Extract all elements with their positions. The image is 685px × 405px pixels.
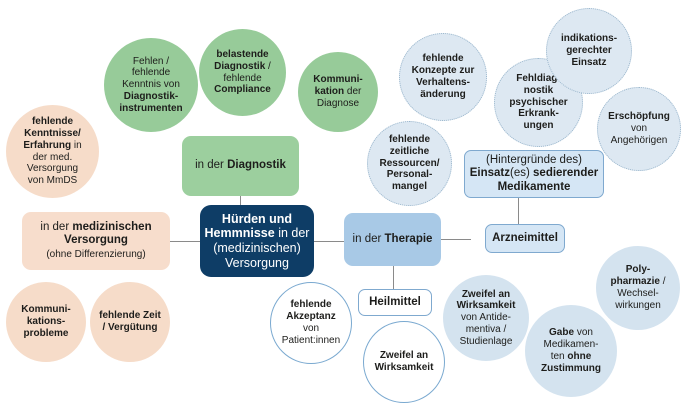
circle-line: von <box>574 327 593 338</box>
circle-line: Diagnostik <box>214 61 265 72</box>
circle-line: Konzepte zur <box>412 65 475 76</box>
circle-line: Zweifel an <box>380 350 428 361</box>
node-label-bold: Heilmittel <box>369 296 421 308</box>
circle-line: Einsatz <box>571 57 606 68</box>
circle-gabe-ohne-zustimmung[interactable]: Gabe von Medikamen- ten ohne Zustimmung <box>525 305 617 397</box>
node-heilmittel[interactable]: Heilmittel <box>358 289 432 316</box>
mindmap-canvas: Fehlen / fehlende Kenntnis von Diagnosti… <box>0 0 685 405</box>
circle-fehlende-akzeptanz[interactable]: fehlende Akzeptanz von Patient:innen <box>270 282 352 364</box>
circle-line: in <box>71 140 82 151</box>
circle-zweifel-antidementiva[interactable]: Zweifel an Wirksamkeit von Antide- menti… <box>443 275 529 361</box>
connector-therapie-to-arzneimittel <box>441 239 471 240</box>
circle-line: Diagnostik- <box>124 91 178 102</box>
node-in-der-medizinischen-versorgung[interactable]: in der medizinischen Versorgung (ohne Di… <box>22 212 170 270</box>
circle-line: Erschöpfung <box>608 111 670 122</box>
circle-line: Poly- <box>626 264 650 275</box>
circle-fehlende-konzepte[interactable]: fehlende Konzepte zur Verhaltens- änderu… <box>399 33 487 121</box>
node-label-bold: Therapie <box>385 233 433 245</box>
circle-kommunikationsprobleme[interactable]: Kommuni- kations- probleme <box>6 282 86 362</box>
circle-line: zeitliche <box>390 146 429 157</box>
node-label-bold: Diagnostik <box>227 159 286 171</box>
circle-line: / <box>660 276 666 287</box>
node-label-bold: Arzneimittel <box>492 232 558 244</box>
circle-line: fehlende <box>32 116 73 127</box>
circle-indikationsgerechter-einsatz[interactable]: indikations- gerechter Einsatz <box>546 8 632 94</box>
circle-line: Gabe <box>549 327 574 338</box>
circle-line: von MmDS <box>28 175 77 186</box>
node-label-bold: medizinischen <box>72 221 151 233</box>
circle-line: Erkrank- <box>518 108 559 119</box>
circle-line: Diagnose <box>317 98 359 109</box>
node-center-huerden-hemmnisse[interactable]: Hürden und Hemmnisse in der (medizinisch… <box>200 205 314 277</box>
circle-line: von <box>303 323 319 334</box>
circle-line: Kommuni- <box>21 304 70 315</box>
circle-line: fehlende <box>132 67 170 78</box>
circle-line: / <box>265 61 271 72</box>
sed-line2-bold2: sedierender <box>530 167 598 179</box>
circle-line: Studienlage <box>460 336 513 347</box>
node-label-prefix: in der <box>40 221 72 233</box>
circle-line: änderung <box>420 89 466 100</box>
circle-line: kation <box>315 86 344 97</box>
sed-line2-light: (es) <box>510 167 530 179</box>
circle-line: nostik <box>524 85 553 96</box>
node-arzneimittel[interactable]: Arzneimittel <box>485 224 565 253</box>
circle-line: mentiva / <box>466 324 507 335</box>
node-einsatz-sedierender-medikamente[interactable]: (Hintergründe des) Einsatz(es) sedierend… <box>464 150 604 198</box>
circle-line: Wirksamkeit <box>375 362 434 373</box>
circle-line: ohne <box>567 351 591 362</box>
node-in-der-therapie[interactable]: in der Therapie <box>344 213 441 266</box>
circle-fehlende-zeitliche-ressourcen[interactable]: fehlende zeitliche Ressourcen/ Personal-… <box>367 121 452 206</box>
circle-line: von <box>631 123 647 134</box>
circle-line: psychischer <box>509 97 567 108</box>
circle-line: von Antide- <box>461 312 511 323</box>
connector-arzneimittel-to-sedierende <box>518 198 519 224</box>
circle-line: mangel <box>392 181 427 192</box>
connector-center-to-therapie <box>314 241 344 242</box>
circle-fehlende-zeit-verguetung[interactable]: fehlende Zeit / Vergütung <box>90 282 170 362</box>
center-line3: (medizinischen) <box>213 241 301 255</box>
node-label-note: (ohne Differenzierung) <box>46 249 145 260</box>
circle-line: / Vergütung <box>103 322 158 333</box>
circle-line: kations- <box>27 316 65 327</box>
circle-line: instrumenten <box>119 103 182 114</box>
circle-zweifel-an-wirksamkeit[interactable]: Zweifel an Wirksamkeit <box>363 321 445 403</box>
circle-line: indikations- <box>561 33 617 44</box>
sed-line2-bold: Einsatz <box>470 167 510 179</box>
circle-line: der <box>344 86 361 97</box>
circle-line: ungen <box>524 120 554 131</box>
circle-line: Verhaltens- <box>416 77 470 88</box>
circle-line: fehlende <box>290 299 331 310</box>
circle-line: ten <box>551 351 568 362</box>
circle-line: gerechter <box>566 45 612 56</box>
circle-line: Wechsel- <box>617 288 659 299</box>
circle-fehlen-diagnostikinstrumente[interactable]: Fehlen / fehlende Kenntnis von Diagnosti… <box>104 38 198 132</box>
circle-line: Ressourcen/ <box>379 158 439 169</box>
center-line2-bold: Hemmnisse <box>205 226 275 240</box>
circle-line: Medikamen- <box>543 339 598 350</box>
circle-line: Compliance <box>214 84 271 95</box>
circle-line: fehlende <box>223 73 261 84</box>
node-label-prefix: in der <box>195 159 227 171</box>
center-line1: Hürden und <box>222 212 292 226</box>
circle-line: probleme <box>23 328 68 339</box>
connector-center-to-versorgung <box>170 241 200 242</box>
circle-line: Kommuni- <box>313 74 362 85</box>
circle-kommunikation-diagnose[interactable]: Kommuni- kation der Diagnose <box>298 52 378 132</box>
node-label-bold: Versorgung <box>64 234 128 246</box>
circle-line: Wirksamkeit <box>457 300 516 311</box>
circle-polypharmazie-wechselwirkungen[interactable]: Poly- pharmazie / Wechsel- wirkungen <box>596 246 680 330</box>
circle-line: Akzeptanz <box>286 311 335 322</box>
circle-line: Zweifel an <box>462 289 510 300</box>
circle-fehlende-kenntnisse-mmds[interactable]: fehlende Kenntnisse/ Erfahrung in der me… <box>6 105 99 198</box>
circle-line: der med. <box>33 152 72 163</box>
circle-line: fehlende <box>389 134 430 145</box>
node-in-der-diagnostik[interactable]: in der Diagnostik <box>182 136 299 196</box>
center-line4: Versorgung <box>225 256 289 270</box>
circle-line: Kenntnisse/ <box>24 128 81 139</box>
circle-line: fehlende Zeit <box>99 310 161 321</box>
circle-line: Personal- <box>387 169 433 180</box>
circle-line: Angehörigen <box>611 135 668 146</box>
center-line2-rest: in der <box>275 226 310 240</box>
circle-line: Fehlen / <box>133 56 169 67</box>
circle-line: fehlende <box>422 53 463 64</box>
circle-line: Versorgung <box>27 163 78 174</box>
circle-line: Patient:innen <box>282 335 340 346</box>
circle-line: wirkungen <box>615 300 661 311</box>
sed-line1: (Hintergründe des) <box>486 154 582 166</box>
circle-line: belastende <box>216 49 268 60</box>
node-label-prefix: in der <box>353 233 385 245</box>
connector-therapie-to-heilmittel <box>393 265 394 289</box>
circle-erschoepfung-angehoerige[interactable]: Erschöpfung von Angehörigen <box>597 87 681 171</box>
circle-line: Zustimmung <box>541 363 601 374</box>
circle-line: pharmazie <box>610 276 659 287</box>
sed-line3-bold: Medikamente <box>498 181 571 193</box>
circle-line: Erfahrung <box>23 140 71 151</box>
circle-line: Kenntnis von <box>122 79 180 90</box>
circle-belastende-diagnostik[interactable]: belastende Diagnostik / fehlende Complia… <box>199 29 286 116</box>
